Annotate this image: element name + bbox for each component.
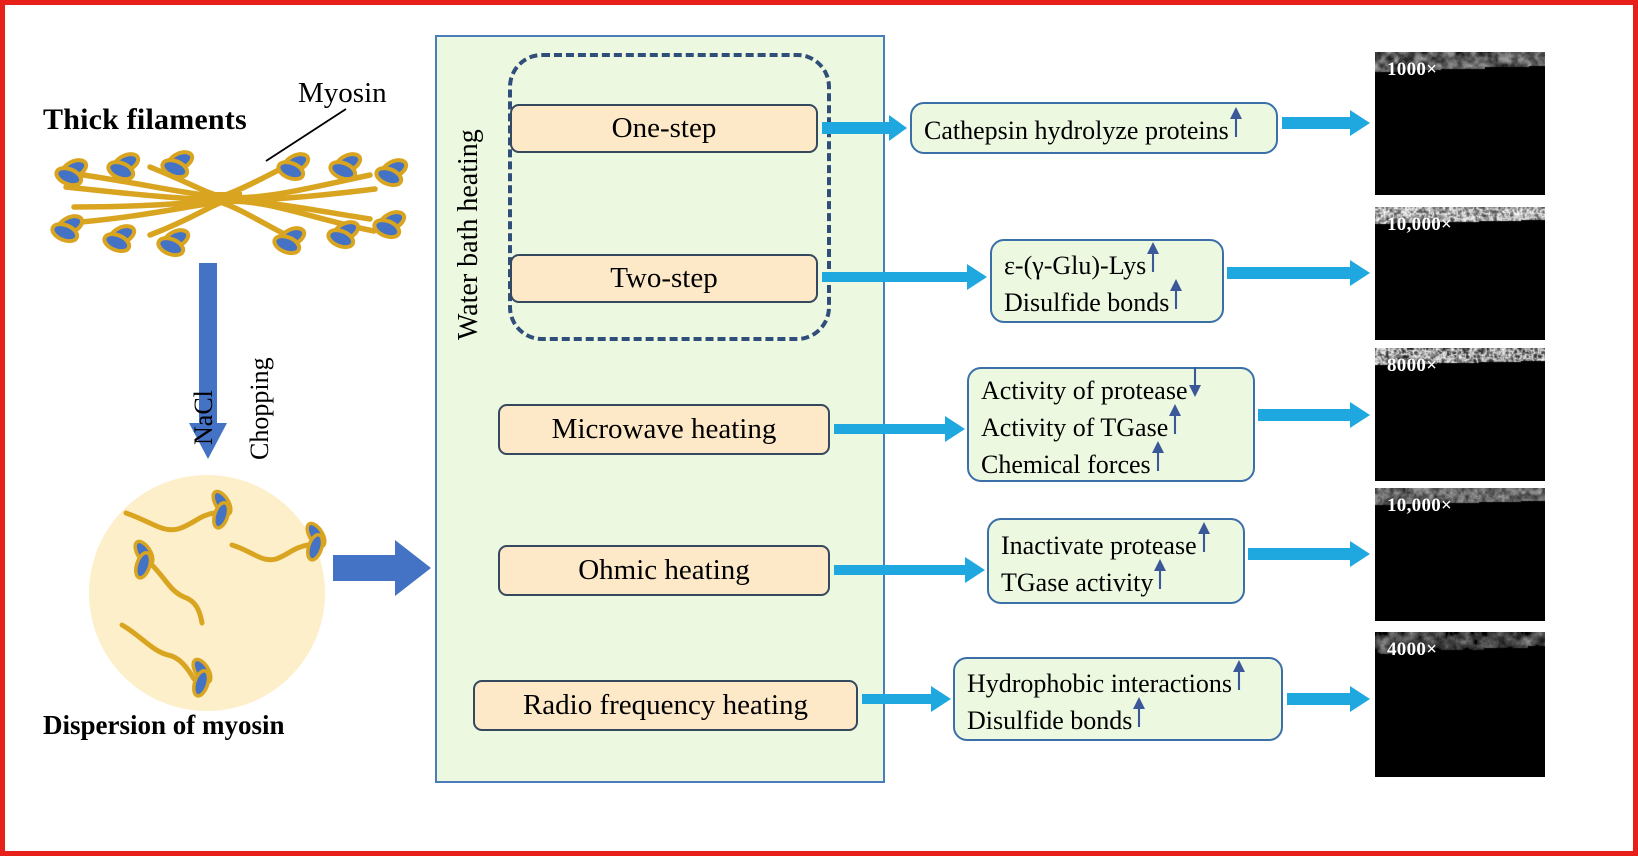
water-bath-heating-label: Water bath heating	[453, 129, 485, 340]
outcome-box-cathepsin: Cathepsin hydrolyze proteins	[910, 102, 1278, 154]
sem-micrograph-1: 1000×	[1375, 52, 1545, 195]
chopping-label: Chopping	[245, 357, 275, 460]
flow-arrow	[1287, 686, 1370, 712]
outcome-text: Activity of protease	[981, 376, 1188, 406]
magnification-label: 1000×	[1387, 59, 1437, 81]
sem-micrograph-4: 10,000×	[1375, 488, 1545, 621]
outcome-box-ohmic-effects: Inactivate protease TGase activity	[987, 518, 1245, 604]
outcome-line: Activity of TGase	[981, 406, 1241, 443]
dispersion-caption: Dispersion of myosin	[43, 710, 285, 741]
outcome-line: Inactivate protease	[1001, 524, 1231, 561]
trend-up-icon	[1169, 279, 1183, 316]
flow-arrow	[1227, 260, 1370, 286]
trend-up-icon	[1153, 559, 1167, 596]
outcome-box-radio-effects: Hydrophobic interactions Disulfide bonds	[953, 657, 1283, 741]
outcome-line: Disulfide bonds	[967, 699, 1269, 736]
trend-up-icon	[1229, 107, 1243, 144]
outcome-text: ε-(γ-Glu)-Lys	[1004, 251, 1146, 281]
outcome-line: Disulfide bonds	[1004, 281, 1210, 318]
magnification-label: 10,000×	[1387, 214, 1452, 236]
thick-filaments-label: Thick filaments	[43, 103, 247, 137]
outcome-text: Disulfide bonds	[967, 706, 1132, 736]
outcome-text: Disulfide bonds	[1004, 288, 1169, 318]
dispersion-illustration	[60, 475, 360, 720]
outcome-box-microwave-effects: Activity of protease Activity of TGase C…	[967, 367, 1255, 482]
sem-micrograph-3: 8000×	[1375, 348, 1545, 481]
method-box-ohmic-heating[interactable]: Ohmic heating	[498, 545, 830, 596]
outcome-text: TGase activity	[1001, 568, 1153, 598]
trend-up-icon	[1151, 441, 1165, 478]
figure-root: Thick filaments Myosin	[0, 0, 1638, 856]
flow-arrow	[1282, 110, 1370, 136]
thick-filament-illustration	[30, 135, 410, 265]
outcome-text: Hydrophobic interactions	[967, 669, 1232, 699]
flow-arrow	[1248, 541, 1370, 567]
sem-micrograph-2: 10,000×	[1375, 207, 1545, 340]
trend-up-icon	[1168, 404, 1182, 441]
outcome-line: ε-(γ-Glu)-Lys	[1004, 244, 1210, 281]
trend-up-icon	[1197, 522, 1211, 559]
method-box-radio-frequency-heating[interactable]: Radio frequency heating	[473, 680, 858, 731]
outcome-text: Activity of TGase	[981, 413, 1168, 443]
outcome-line: Cathepsin hydrolyze proteins	[924, 109, 1243, 146]
trend-down-icon	[1188, 367, 1202, 404]
dispersion-to-panel-arrow	[333, 535, 433, 605]
magnification-label: 4000×	[1387, 639, 1437, 661]
outcome-line: Hydrophobic interactions	[967, 662, 1269, 699]
nacl-label: NaCl	[189, 390, 219, 445]
method-box-microwave-heating[interactable]: Microwave heating	[498, 404, 830, 455]
outcome-line: TGase activity	[1001, 561, 1231, 598]
magnification-label: 8000×	[1387, 355, 1437, 377]
sem-micrograph-5: 4000×	[1375, 632, 1545, 777]
trend-up-icon	[1146, 242, 1160, 279]
outcome-text: Chemical forces	[981, 450, 1151, 480]
method-box-one-step[interactable]: One-step	[510, 104, 818, 153]
outcome-line: Chemical forces	[981, 443, 1241, 480]
trend-up-icon	[1232, 660, 1246, 697]
outcome-box-crosslinks: ε-(γ-Glu)-Lys Disulfide bonds	[990, 239, 1224, 323]
outcome-text: Inactivate protease	[1001, 531, 1197, 561]
magnification-label: 10,000×	[1387, 495, 1452, 517]
method-box-two-step[interactable]: Two-step	[510, 254, 818, 303]
outcome-text: Cathepsin hydrolyze proteins	[924, 116, 1229, 146]
flow-arrow	[1258, 402, 1370, 428]
trend-up-icon	[1132, 697, 1146, 734]
outcome-line: Activity of protease	[981, 369, 1241, 406]
